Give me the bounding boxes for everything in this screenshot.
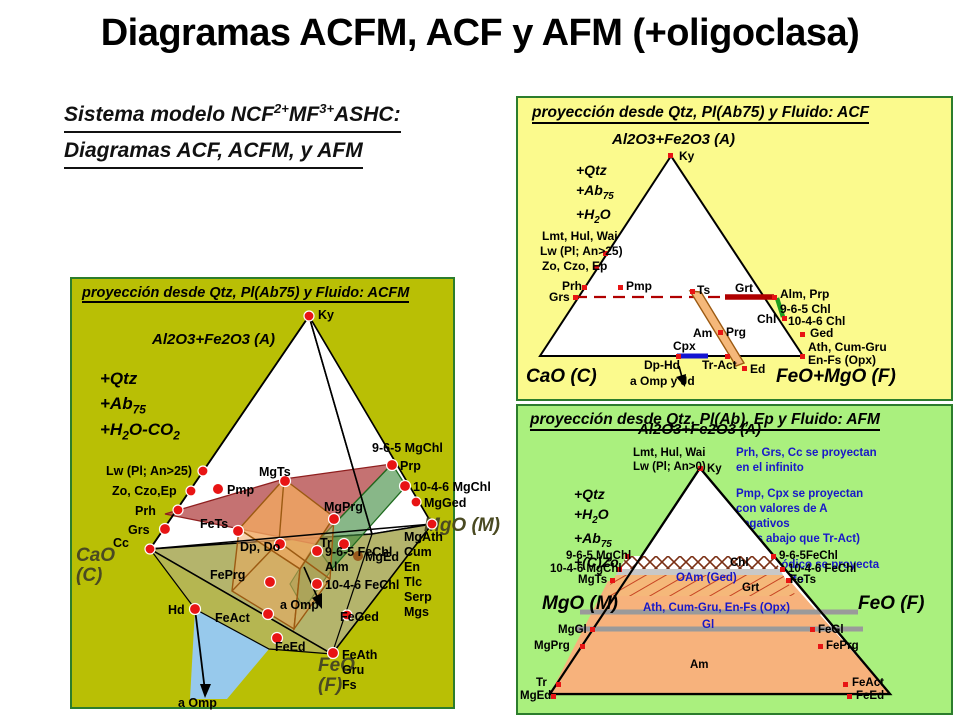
acf-label-ed: Ed: [750, 362, 765, 376]
acf-point-ed: [742, 366, 747, 371]
heading-line2: Diagramas ACF, ACFM, y AFM: [64, 136, 363, 169]
afm-label-lw: Lw (Pl; An>0): [633, 461, 706, 473]
acf-point-prh: [582, 285, 587, 290]
acfm-label-mgprg: MgPrg: [324, 500, 363, 514]
acf-point-ky: [668, 153, 673, 158]
acf-label-ts: Ts: [697, 283, 710, 297]
acfm-point-zo: [186, 486, 196, 496]
acfm-label-fets: FeTs: [200, 517, 228, 531]
acf-label-alm-prp: Alm, Prp: [780, 287, 829, 301]
acfm-label-fs: Fs: [342, 678, 357, 692]
acf-label-am: Am: [693, 326, 712, 340]
acfm-label-lw: Lw (Pl; An>25): [106, 464, 192, 478]
afm-point-mgts: [610, 578, 615, 583]
acfm-label-feged: FeGed: [340, 610, 379, 624]
acfm-label-mgath: MgAth: [404, 530, 443, 544]
afm-label-mged: MgEd: [520, 690, 551, 702]
acf-label-zo: Zo, Czo, Ep: [542, 259, 607, 273]
acf-apex-label: Al2O3+Fe2O3 (A): [611, 131, 735, 148]
acfm-label-alm: Alm: [325, 560, 349, 574]
acf-label-lmt: Lmt, Hul, Wai: [542, 229, 618, 243]
acfm-point-fets: [233, 526, 244, 537]
acfm-point-mgchl1046: [400, 481, 411, 492]
page-title: Diagramas ACFM, ACF y AFM (+oligoclasa): [0, 12, 960, 55]
acfm-label-fechl965: 9-6-5 FeChl: [325, 545, 392, 559]
acfm-label-aomp-inner: a Omp: [280, 598, 319, 612]
acf-label-ath: Ath, Cum-Gru: [808, 340, 887, 354]
heading-line1-a: Sistema modelo NCF: [64, 103, 274, 126]
acfm-apex-label: Al2O3+Fe2O3 (A): [151, 331, 275, 348]
acf-label-ky: Ky: [679, 149, 695, 163]
acfm-label-dpdo: Dp, Do: [240, 540, 281, 554]
acf-point-prg: [718, 330, 723, 335]
acf-label-grt: Grt: [735, 281, 753, 295]
acfm-corner-cao-1: CaO: [76, 545, 115, 566]
acfm-point-hd: [190, 604, 201, 615]
afm-label-am: Am: [690, 659, 709, 671]
acf-label-cpx: Cpx: [673, 339, 696, 353]
afm-point-tr: [556, 682, 561, 687]
afm-label-ath: Ath, Cum-Gru, En-Fs (Opx): [643, 602, 790, 614]
heading-line1-b: MF: [289, 103, 319, 126]
afm-label-fets: FeTs: [790, 574, 816, 586]
afm-label-fechl965: 9-6-5FeChl: [779, 550, 838, 562]
afm-corner-feo: FeO (F): [858, 593, 925, 614]
heading-sup-2: 3+: [319, 101, 334, 116]
acf-point-pmp: [618, 285, 623, 290]
heading-line1-c: ASHC:: [334, 100, 401, 133]
acf-label-tract: Tr-Act: [702, 358, 737, 372]
acfm-label-zo: Zo, Czo,Ep: [112, 484, 177, 498]
afm-point-mged: [551, 694, 556, 699]
afm-label-mgprg: MgPrg: [534, 640, 570, 652]
acfm-label-pmp: Pmp: [227, 483, 254, 497]
acf-corner-cao: CaO (C): [526, 366, 597, 387]
afm-label-feact: FeAct: [852, 677, 884, 689]
acfm-point-fechl1046: [312, 579, 323, 590]
afm-label-gl: Gl: [702, 619, 714, 631]
acfm-label-mgts: MgTs: [259, 465, 291, 479]
acfm-point-ky: [304, 311, 314, 321]
afm-label-chl: Chl: [730, 557, 749, 569]
acfm-label-fechl1046: 10-4-6 FeChl: [325, 578, 399, 592]
acfm-label-ky: Ky: [318, 308, 334, 322]
acfm-label-mgchl1046: 10-4-6 MgChl: [413, 480, 491, 494]
acfm-label-en: En: [404, 560, 420, 574]
afm-label-ky: Ky: [707, 463, 722, 475]
afm-label-tr: Tr: [536, 677, 547, 689]
acfm-label-hd: Hd: [168, 603, 185, 617]
afm-point-mgprg: [580, 644, 585, 649]
acfm-corner-feo-2: (F): [318, 675, 342, 696]
afm-label-grt: Grt: [742, 582, 759, 594]
acfm-label-grs: Grs: [128, 523, 150, 537]
afm-label-lmt: Lmt, Hul, Wai: [633, 447, 705, 459]
afm-label-fegl: FeGl: [818, 624, 844, 636]
panel-acf: proyección desde Qtz, Pl(Ab75) y Fluido:…: [516, 96, 953, 401]
acf-point-ged: [800, 332, 805, 337]
acfm-point-cc: [145, 544, 155, 554]
acfm-label-mgchl965: 9-6-5 MgChl: [372, 441, 443, 455]
acf-label-prg: Prg: [726, 325, 746, 339]
acfm-point-mgprg: [329, 514, 340, 525]
acfm-label-feath: FeAth: [342, 648, 377, 662]
acf-point-alm-prp: [772, 295, 777, 300]
afm-label-oam: OAm (Ged): [676, 572, 737, 584]
acf-triangle-svg: Al2O3+Fe2O3 (A) CaO (C) FeO+MgO (F): [518, 98, 955, 403]
acfm-point-mgo: [427, 519, 437, 529]
afm-point-feprg: [818, 644, 823, 649]
acfm-point-grs: [160, 524, 171, 535]
acfm-tetrahedron-svg: Al2O3+Fe2O3 (A) CaO (C) MgO (M) FeO (F) …: [72, 279, 457, 711]
acf-corner-feomgo: FeO+MgO (F): [776, 366, 896, 387]
acf-label-aomp: a Omp y Jd: [630, 374, 695, 388]
acfm-point-feath: [328, 648, 339, 659]
acfm-label-feprg: FePrg: [210, 568, 245, 582]
panel-acfm: proyección desde Qtz, Pl(Ab75) y Fluido:…: [70, 277, 455, 709]
afm-point-fechl1046: [780, 567, 785, 572]
acfm-corner-cao-2: (C): [76, 565, 102, 586]
heading-sup-1: 2+: [274, 101, 289, 116]
acf-point-chl1046: [782, 316, 787, 321]
acfm-label-mgged: MgGed: [424, 496, 466, 510]
acfm-point-prp: [387, 460, 398, 471]
afm-label-feed: FeEd: [856, 690, 884, 702]
afm-point-mggl: [590, 627, 595, 632]
acf-label-pmp: Pmp: [626, 279, 652, 293]
acfm-point-feact: [263, 609, 274, 620]
acfm-label-serp: Serp: [404, 590, 432, 604]
acfm-point-pmp: [213, 484, 223, 494]
acfm-label-cc: Cc: [113, 536, 129, 550]
panel-afm: proyección desde Qtz, Pl(Ab), Ep y Fluid…: [516, 404, 953, 715]
acf-point-enfs: [800, 354, 805, 359]
afm-point-feed: [847, 694, 852, 699]
afm-label-feprg: FePrg: [826, 640, 859, 652]
acfm-label-feact: FeAct: [215, 611, 251, 625]
acfm-label-tlc: Tlc: [404, 575, 422, 589]
acfm-arrow-label: a Omp: [178, 696, 217, 710]
acfm-point-mgged: [411, 497, 421, 507]
acfm-label-gru: Gru: [342, 663, 364, 677]
acf-label-chl: Chl: [757, 312, 776, 326]
afm-label-mggl: MgGl: [558, 624, 587, 636]
afm-band-chlorite: [619, 556, 780, 569]
system-model-heading: Sistema modelo NCF2+MF3+ASHC: Diagramas …: [64, 100, 484, 172]
acf-label-ged: Ged: [810, 326, 833, 340]
afm-point-feact: [843, 682, 848, 687]
afm-triangle-svg: Al2O3+Fe2O3 (A) MgO (M) FeO (F): [518, 406, 955, 717]
acf-label-enfs: En-Fs (Opx): [808, 353, 876, 367]
acf-label-lw: Lw (Pl; An>25): [540, 244, 623, 258]
acfm-point-prh: [173, 505, 183, 515]
acf-point-grs: [573, 295, 578, 300]
acfm-point-feprg: [265, 577, 276, 588]
acf-point-ts: [690, 289, 695, 294]
acf-label-grs: Grs: [549, 290, 570, 304]
acfm-label-cum: Cum: [404, 545, 432, 559]
acfm-label-feed: FeEd: [275, 640, 306, 654]
afm-label-mgchl965: 9-6-5 MgChl: [566, 550, 631, 562]
acfm-label-prh: Prh: [135, 504, 156, 518]
afm-apex-label: Al2O3+Fe2O3 (A): [637, 421, 761, 438]
acfm-point-lw: [198, 466, 208, 476]
afm-label-mgts: MgTs: [578, 574, 607, 586]
afm-point-fechl965: [771, 554, 776, 559]
acfm-label-prp: Prp: [400, 459, 421, 473]
afm-point-fegl: [810, 627, 815, 632]
acfm-label-mgs: Mgs: [404, 605, 429, 619]
afm-corner-mgo: MgO (M): [542, 593, 618, 614]
acf-label-dphd: Dp-Hd: [644, 358, 680, 372]
